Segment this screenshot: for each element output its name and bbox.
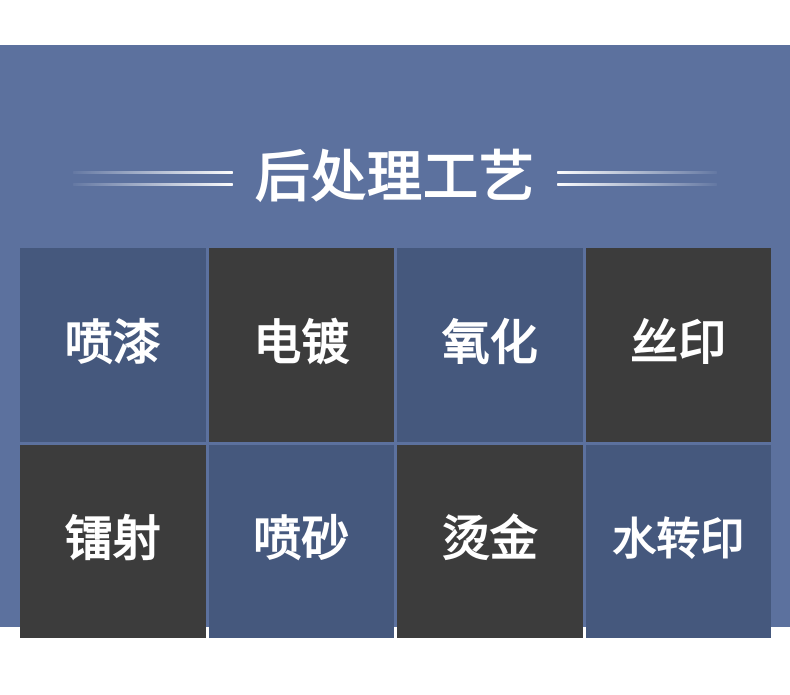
process-cell-label: 电镀 [253,320,349,368]
banner-panel: 后处理工艺 喷漆 电镀 氧化 丝印 镭射 喷砂 [0,45,790,627]
right-double-rule [557,162,717,192]
process-cell-3[interactable]: 氧化 [397,248,583,442]
page-root: 后处理工艺 喷漆 电镀 氧化 丝印 镭射 喷砂 [0,0,790,695]
page-title: 后处理工艺 [233,150,557,205]
process-cell-label: 丝印 [630,320,726,368]
process-cell-label: 烫金 [442,516,538,564]
right-rule-line-bottom [557,183,717,186]
process-cell-label: 喷砂 [253,516,349,564]
process-cell-2[interactable]: 电镀 [209,248,395,442]
process-cell-1[interactable]: 喷漆 [20,248,206,442]
process-cell-5[interactable]: 镭射 [20,445,206,639]
left-rule-line-top [73,171,233,174]
process-grid: 喷漆 电镀 氧化 丝印 镭射 喷砂 烫金 水转印 [20,248,771,638]
left-rule-line-bottom [73,183,233,186]
process-cell-8[interactable]: 水转印 [586,445,772,639]
process-cell-4[interactable]: 丝印 [586,248,772,442]
process-cell-label: 氧化 [442,320,538,368]
process-cell-label: 镭射 [65,516,161,564]
left-double-rule [73,162,233,192]
process-cell-6[interactable]: 喷砂 [209,445,395,639]
right-rule-line-top [557,171,717,174]
process-cell-label: 水转印 [612,518,744,562]
process-cell-7[interactable]: 烫金 [397,445,583,639]
process-cell-label: 喷漆 [65,320,161,368]
title-block: 后处理工艺 [0,141,790,213]
